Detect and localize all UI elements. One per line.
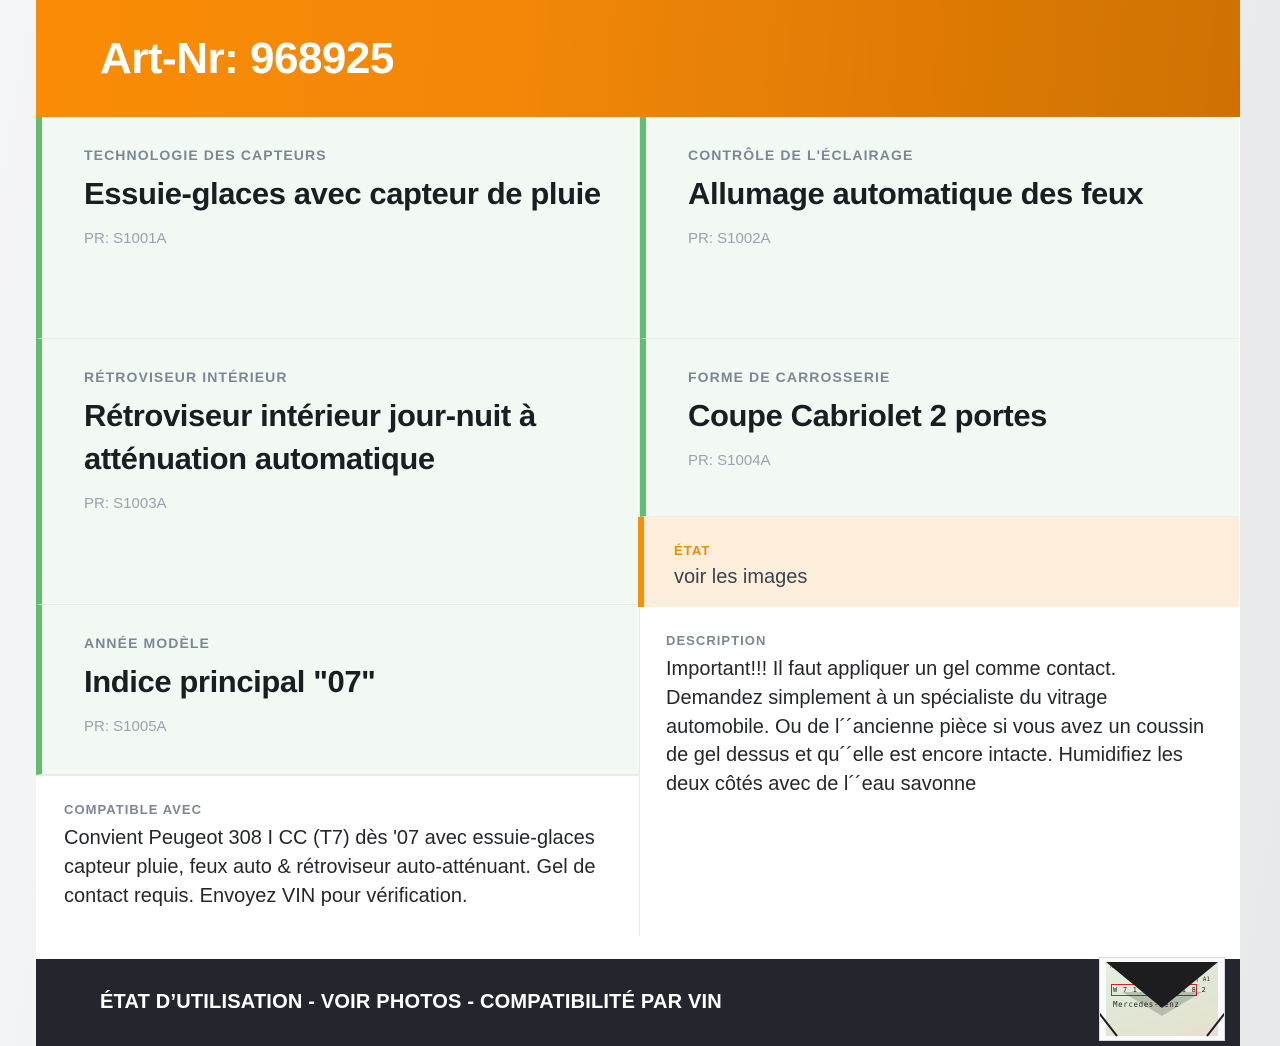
vehicle-document-thumbnail[interactable]: Fahrgestell-Nr. [4] A1 W 7 1 4 6 3 1 1 8… [1099, 957, 1225, 1041]
condition-value: voir les images [674, 566, 1209, 589]
header-bar: Art-Nr: 968925 [36, 0, 1240, 117]
spec-code: PR: S1003A [84, 495, 609, 512]
envelope-flap-icon [1106, 962, 1218, 1008]
spec-label: FORME DE CARROSSERIE [688, 369, 1209, 385]
spec-code: PR: S1002A [688, 230, 1209, 247]
footer-bar: ÉTAT D’UTILISATION - VOIR PHOTOS - COMPA… [36, 959, 1240, 1046]
condition-block: ÉTAT voir les images [638, 517, 1239, 607]
compatibility-block: COMPATIBLE AVEC Convient Peugeot 308 I C… [36, 775, 639, 936]
spec-value: Coupe Cabriolet 2 portes [688, 395, 1209, 438]
condition-label: ÉTAT [674, 543, 1209, 558]
spec-label: ANNÉE MODÈLE [84, 635, 609, 651]
page-title: Art-Nr: 968925 [100, 37, 394, 81]
spec-card-sensor-technology: TECHNOLOGIE DES CAPTEURS Essuie-glaces a… [36, 117, 639, 339]
spec-value: Essuie-glaces avec capteur de pluie [84, 173, 609, 216]
spec-value: Rétroviseur intérieur jour-nuit à atténu… [84, 395, 609, 481]
spec-card-lighting-control: CONTRÔLE DE L'ÉCLAIRAGE Allumage automat… [640, 117, 1239, 339]
compatibility-text: Convient Peugeot 308 I CC (T7) dès '07 a… [64, 824, 611, 910]
footer-notice: ÉTAT D’UTILISATION - VOIR PHOTOS - COMPA… [100, 991, 722, 1014]
spec-card-body-style: FORME DE CARROSSERIE Coupe Cabriolet 2 p… [640, 339, 1239, 517]
listing-card: Art-Nr: 968925 TECHNOLOGIE DES CAPTEURS … [36, 0, 1240, 1046]
spec-value: Indice principal "07" [84, 661, 609, 704]
spec-value: Allumage automatique des feux [688, 173, 1209, 216]
spec-grid: TECHNOLOGIE DES CAPTEURS Essuie-glaces a… [36, 117, 1240, 959]
compatibility-label: COMPATIBLE AVEC [64, 802, 611, 817]
spec-column-right: CONTRÔLE DE L'ÉCLAIRAGE Allumage automat… [640, 117, 1239, 825]
description-label: DESCRIPTION [666, 633, 1211, 648]
description-text: Important!!! Il faut appliquer un gel co… [666, 655, 1211, 799]
description-block: DESCRIPTION Important!!! Il faut appliqu… [640, 607, 1239, 825]
spec-label: TECHNOLOGIE DES CAPTEURS [84, 147, 609, 163]
spec-label: RÉTROVISEUR INTÉRIEUR [84, 369, 609, 385]
spec-label: CONTRÔLE DE L'ÉCLAIRAGE [688, 147, 1209, 163]
spec-card-model-year: ANNÉE MODÈLE Indice principal "07" PR: S… [36, 605, 639, 775]
spec-code: PR: S1004A [688, 452, 1209, 469]
spec-code: PR: S1005A [84, 718, 609, 735]
spec-code: PR: S1001A [84, 230, 609, 247]
spec-card-interior-mirror: RÉTROVISEUR INTÉRIEUR Rétroviseur intéri… [36, 339, 639, 605]
spec-column-left: TECHNOLOGIE DES CAPTEURS Essuie-glaces a… [36, 117, 640, 936]
